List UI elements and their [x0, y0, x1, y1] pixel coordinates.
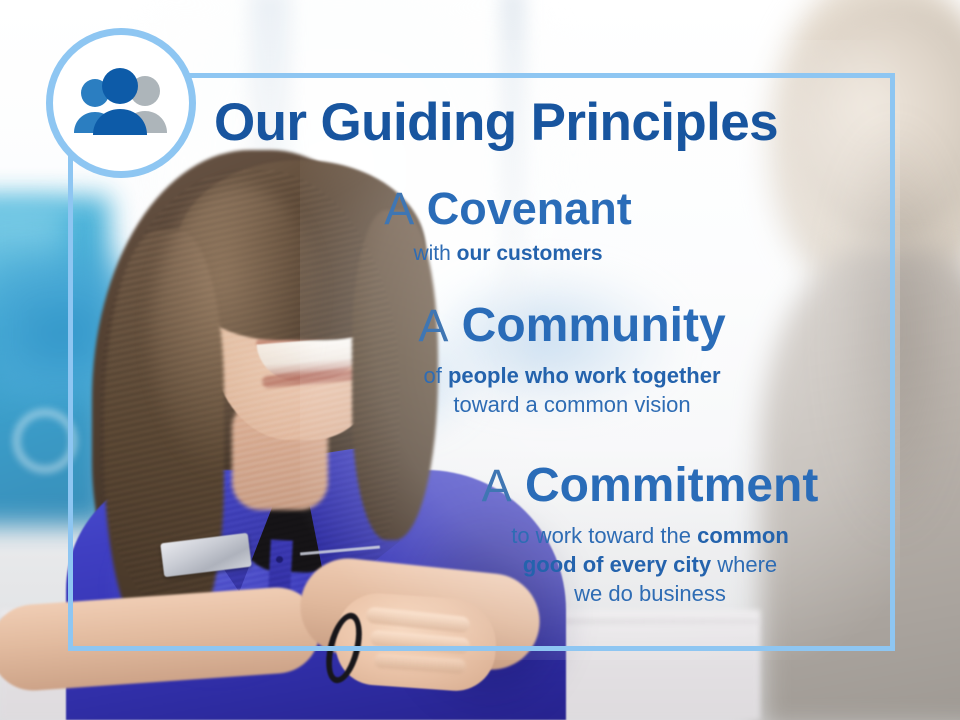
text-run: toward a common vision — [453, 392, 690, 417]
principle-commitment: A Commitment to work toward the common g… — [430, 462, 870, 609]
guiding-principles-banner: FLOW FLOW — [0, 0, 960, 720]
frame-border-right — [890, 73, 895, 651]
principle-community-line-1: of people who work together — [372, 361, 772, 390]
principle-covenant-heading: A Covenant — [318, 186, 698, 232]
principle-commitment-article: A — [482, 460, 512, 511]
principle-community: A Community of people who work together … — [372, 302, 772, 419]
text-run-bold: people who work together — [448, 363, 721, 388]
principle-commitment-heading: A Commitment — [430, 462, 870, 511]
page-title: Our Guiding Principles — [214, 96, 874, 149]
principle-community-word: Community — [462, 299, 726, 352]
principle-covenant: A Covenant with our customers — [318, 186, 698, 268]
frame-border-top — [68, 73, 895, 78]
principle-commitment-line-3: we do business — [430, 579, 870, 608]
principle-covenant-line-1: with our customers — [318, 240, 698, 268]
principle-community-heading: A Community — [372, 302, 772, 351]
frame-border-left — [68, 142, 73, 651]
principle-community-article: A — [418, 300, 448, 351]
text-run-bold: common — [697, 523, 789, 548]
text-run-bold: our customers — [457, 242, 603, 265]
text-run: where — [711, 552, 777, 577]
principle-covenant-word: Covenant — [427, 183, 632, 234]
principle-commitment-line-1: to work toward the common — [430, 521, 870, 550]
hair-highlight — [150, 185, 330, 485]
frame-border-bottom — [68, 646, 895, 651]
text-run: we do business — [574, 581, 726, 606]
people-group-icon — [68, 67, 174, 139]
people-badge — [46, 28, 196, 178]
blurred-brand-logo — [14, 410, 76, 472]
principle-covenant-article: A — [384, 183, 414, 234]
principle-commitment-word: Commitment — [525, 459, 818, 512]
text-run-bold: good of every city — [523, 552, 711, 577]
text-run: of — [423, 363, 447, 388]
text-run: with — [413, 242, 456, 265]
principle-commitment-line-2: good of every city where — [430, 550, 870, 579]
principle-community-line-2: toward a common vision — [372, 390, 772, 419]
text-run: to work toward the — [511, 523, 697, 548]
